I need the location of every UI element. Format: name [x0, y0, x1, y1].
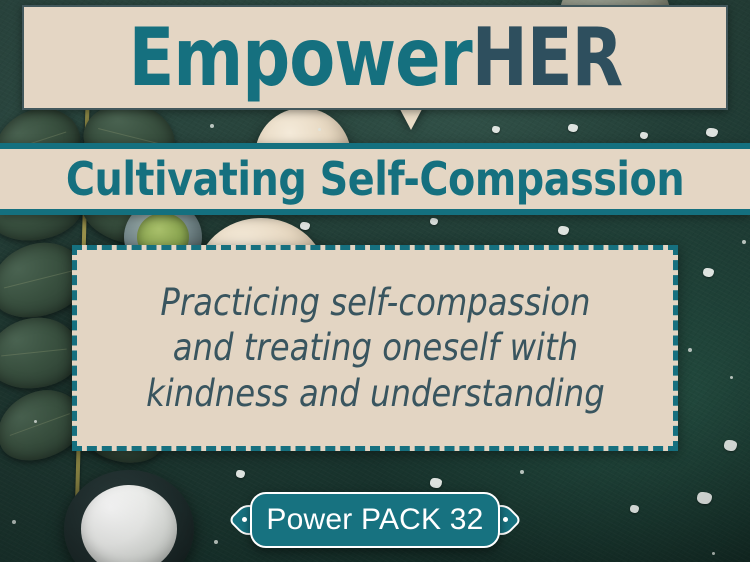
badge-right-dot	[503, 517, 508, 522]
badge-left-dot	[242, 517, 247, 522]
subtitle-banner: Cultivating Self-Compassion	[0, 143, 750, 215]
page-title: EmpowerHER	[128, 18, 622, 98]
title-first-word: Empower	[128, 11, 471, 104]
badge-plate: Power PACK 32	[250, 492, 500, 548]
badge-label: Power PACK 32	[266, 505, 483, 535]
poster-canvas: EmpowerHER Cultivating Self-Compassion P…	[0, 0, 750, 562]
title-second-word: HER	[471, 11, 622, 104]
body-line-3: kindness and understanding	[146, 371, 605, 416]
subtitle-text: Cultivating Self-Compassion	[66, 156, 684, 202]
body-text: Practicing self-compassion and treating …	[134, 280, 616, 415]
title-banner: EmpowerHER	[22, 5, 728, 110]
body-card: Practicing self-compassion and treating …	[72, 245, 678, 451]
power-pack-badge: Power PACK 32	[232, 492, 518, 548]
body-line-2: and treating oneself with	[146, 325, 605, 370]
body-line-1: Practicing self-compassion	[146, 280, 605, 325]
